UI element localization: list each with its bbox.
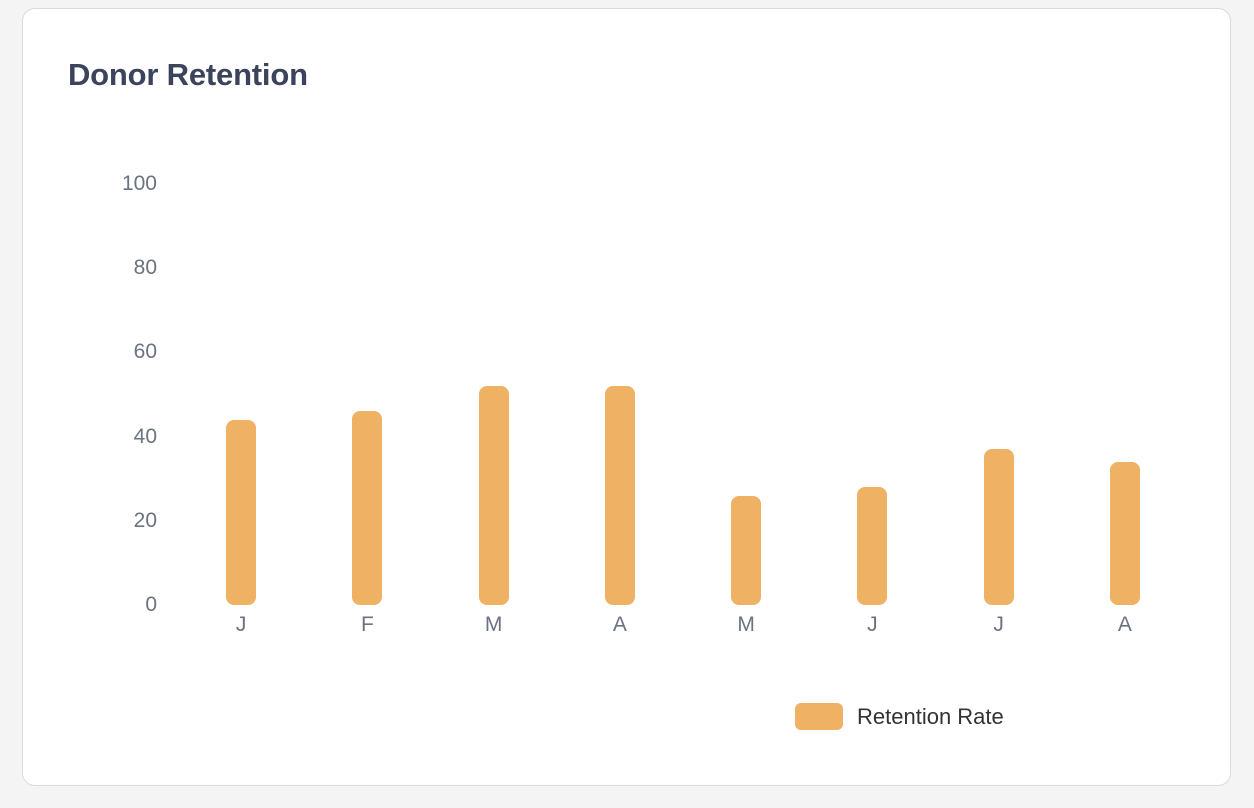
- x-axis-tick-label: A: [580, 613, 660, 637]
- chart-plot-area: 100806040200 JFMAMJJA: [23, 9, 1232, 787]
- x-axis-tick-label: J: [959, 613, 1039, 637]
- x-axis-tick-label: F: [327, 613, 407, 637]
- x-axis-tick-label: J: [201, 613, 281, 637]
- x-axis-tick-label: A: [1085, 613, 1165, 637]
- x-axis: JFMAMJJA: [23, 9, 1232, 787]
- x-axis-tick-label: M: [706, 613, 786, 637]
- chart-card: Donor Retention 100806040200 JFMAMJJA Re…: [22, 8, 1231, 786]
- x-axis-tick-label: J: [832, 613, 912, 637]
- legend-swatch-retention-rate: [795, 703, 843, 730]
- x-axis-tick-label: M: [454, 613, 534, 637]
- legend-label-retention-rate: Retention Rate: [857, 704, 1004, 730]
- chart-legend: Retention Rate: [795, 703, 1004, 730]
